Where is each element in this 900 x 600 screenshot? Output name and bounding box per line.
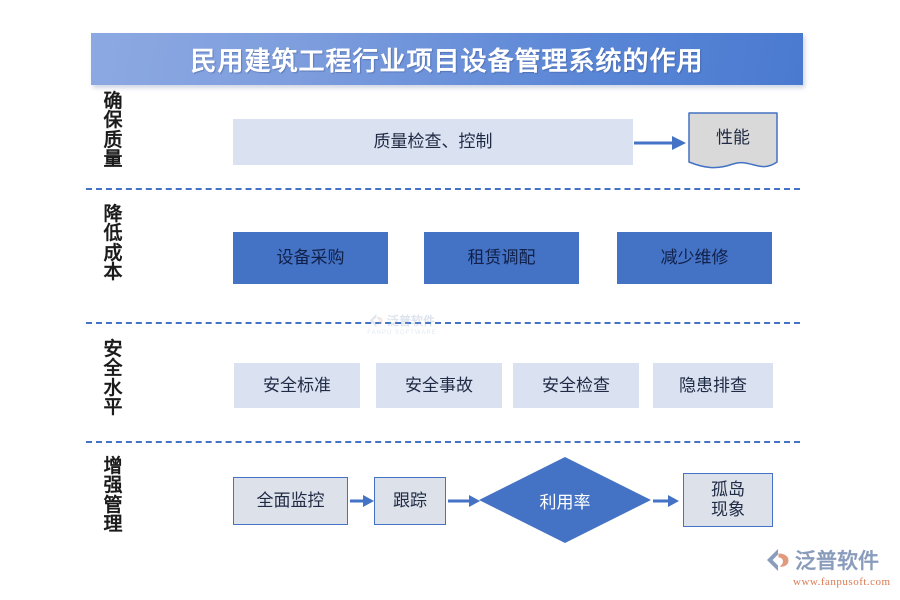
box-label: 质量检查、控制: [374, 132, 493, 152]
box-tracking[interactable]: 跟踪: [374, 477, 446, 525]
box-reduce-maintenance[interactable]: 减少维修: [617, 232, 772, 284]
row-label-char: 低: [95, 224, 131, 243]
arrow-tracking-to-utilization: [448, 493, 480, 509]
row-label-char: 降: [95, 205, 131, 224]
row-label-char: 理: [95, 515, 131, 534]
row-label-char: 确: [95, 92, 131, 111]
brand-logo-row: 泛普软件: [766, 545, 879, 575]
fanpu-logo-icon: [369, 313, 384, 328]
arrow-monitoring-to-tracking: [350, 493, 374, 509]
brand-name: 泛普软件: [795, 545, 879, 575]
box-label: 减少维修: [661, 248, 729, 268]
page-title-banner: 民用建筑工程行业项目设备管理系统的作用: [91, 33, 803, 85]
box-label: 跟踪: [393, 491, 427, 511]
document-label: 性能: [688, 112, 778, 159]
row-label-char: 质: [95, 131, 131, 150]
box-label: 设备采购: [277, 248, 345, 268]
row-label-char: 成: [95, 244, 131, 263]
box-safety-standard[interactable]: 安全标准: [234, 363, 360, 408]
row-label-enhance-management: 增 强 管 理: [95, 457, 131, 535]
diamond-utilization-rate[interactable]: 利用率: [479, 457, 651, 543]
box-label: 安全检查: [542, 376, 610, 396]
box-lease-allocation[interactable]: 租赁调配: [424, 232, 579, 284]
watermark-subtext: FANPU SOFTWARE: [367, 330, 436, 336]
box-equipment-procurement[interactable]: 设备采购: [233, 232, 388, 284]
row-label-char: 强: [95, 476, 131, 495]
arrow-utilization-to-island: [653, 493, 679, 509]
box-safety-inspection[interactable]: 安全检查: [513, 363, 639, 408]
box-full-monitoring[interactable]: 全面监控: [233, 477, 348, 525]
box-island-phenomenon[interactable]: 孤岛 现象: [683, 473, 773, 527]
box-label: 全面监控: [257, 491, 325, 511]
box-label: 安全事故: [405, 376, 473, 396]
page-title: 民用建筑工程行业项目设备管理系统的作用: [190, 41, 703, 78]
box-label: 隐患排查: [679, 376, 747, 396]
row-label-char: 量: [95, 150, 131, 169]
divider-3: [86, 441, 800, 443]
row-label-char: 管: [95, 496, 131, 515]
box-label-line2: 现象: [711, 500, 745, 520]
box-quality-inspection-control[interactable]: 质量检查、控制: [233, 119, 633, 165]
box-label: 安全标准: [263, 376, 331, 396]
brand-url: www.fanpusoft.com: [793, 576, 891, 588]
row-label-reduce-cost: 降 低 成 本: [95, 205, 131, 283]
row-label-char: 安: [95, 340, 131, 359]
row-label-safety-level: 安 全 水 平: [95, 340, 131, 418]
row-label-char: 增: [95, 457, 131, 476]
row-label-char: 保: [95, 111, 131, 130]
diamond-label: 利用率: [479, 457, 651, 543]
infographic-canvas: 民用建筑工程行业项目设备管理系统的作用 确 保 质 量 质量检查、控制 性能 降…: [0, 0, 900, 600]
row-label-char: 本: [95, 263, 131, 282]
fanpu-logo-icon: [766, 548, 790, 572]
row-label-char: 全: [95, 359, 131, 378]
divider-1: [86, 188, 800, 190]
box-label: 租赁调配: [468, 248, 536, 268]
arrow-quality-to-performance: [634, 134, 686, 152]
watermark-text: 泛普软件: [387, 312, 435, 329]
watermark-row: 泛普软件: [369, 312, 435, 329]
row-label-char: 水: [95, 379, 131, 398]
brand-logo: 泛普软件 www.fanpusoft.com: [766, 545, 891, 588]
box-label-line1: 孤岛: [711, 480, 745, 500]
box-safety-accident[interactable]: 安全事故: [376, 363, 502, 408]
box-hidden-danger-investigation[interactable]: 隐患排查: [653, 363, 773, 408]
document-shape-performance[interactable]: 性能: [688, 112, 778, 172]
watermark: 泛普软件 FANPU SOFTWARE: [352, 312, 452, 336]
row-label-ensure-quality: 确 保 质 量: [95, 92, 131, 170]
row-label-char: 平: [95, 398, 131, 417]
